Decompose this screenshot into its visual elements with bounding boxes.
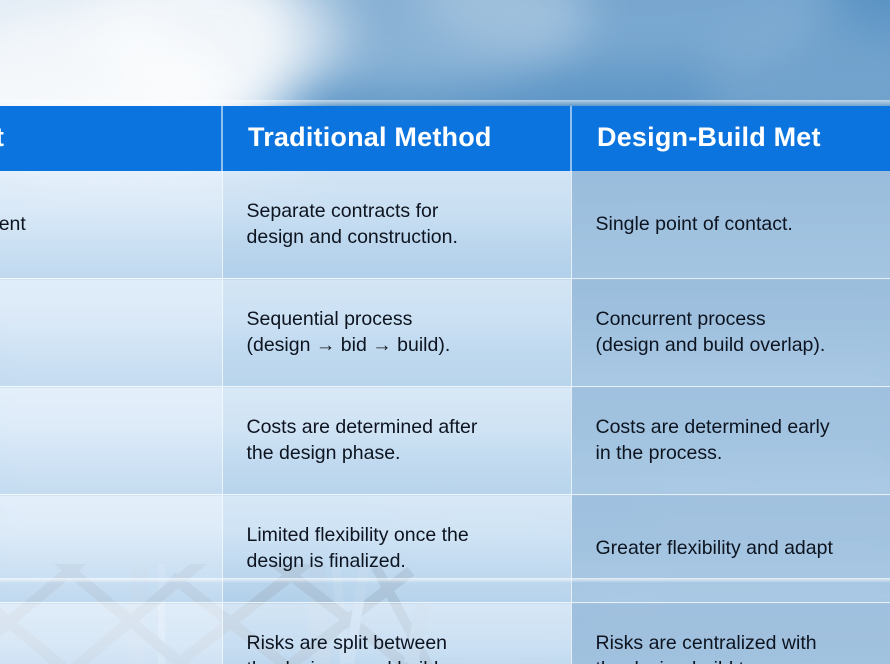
cell-line: in the process. <box>596 442 723 464</box>
cell-design-build: Single point of contact. <box>571 171 890 279</box>
cell-line: Greater flexibility and adapt <box>596 537 833 559</box>
table-row: ity Limited flexibility once the design … <box>0 495 890 603</box>
cell-line: the designer and builder. <box>247 658 461 664</box>
cell-line: (design → bid → build). <box>247 334 451 356</box>
cell-aspect: ity <box>0 495 222 603</box>
cell-line: design is finalized. <box>247 550 406 572</box>
cell-line: Single point of contact. <box>596 213 793 235</box>
column-header-aspect: Aspect <box>0 106 222 171</box>
cell-line: the design phase. <box>247 442 401 464</box>
cell-traditional: Sequential process (design → bid → build… <box>222 279 571 387</box>
table-row: stribution Risks are split between the d… <box>0 603 890 664</box>
cell-design-build: Greater flexibility and adapt <box>571 495 890 603</box>
cell-line: design and construction. <box>247 226 458 248</box>
table-body: Management Separate contracts for design… <box>0 171 890 664</box>
column-header-design-build: Design-Build Met <box>571 106 890 171</box>
cell-line: Separate contracts for <box>247 200 439 222</box>
table-row: ontrol Costs are determined after the de… <box>0 387 890 495</box>
cell-traditional: Costs are determined after the design ph… <box>222 387 571 495</box>
column-header-traditional: Traditional Method <box>222 106 571 171</box>
cell-traditional: Limited flexibility once the design is f… <box>222 495 571 603</box>
table-row: Management Separate contracts for design… <box>0 171 890 279</box>
cell-line: Costs are determined after <box>247 416 478 438</box>
cell-design-build: Risks are centralized with the design-bu… <box>571 603 890 664</box>
cell-line: Limited flexibility once the <box>247 524 469 546</box>
cell-line: the design-build team. <box>596 658 788 664</box>
table-row: e Sequential process (design → bid → bui… <box>0 279 890 387</box>
cell-design-build: Concurrent process (design and build ove… <box>571 279 890 387</box>
table-bottom-highlight <box>0 578 890 583</box>
cell-line: Costs are determined early <box>596 416 830 438</box>
cell-design-build: Costs are determined early in the proces… <box>571 387 890 495</box>
cell-aspect: ontrol <box>0 387 222 495</box>
cell-aspect: stribution <box>0 603 222 664</box>
cell-line: Risks are centralized with <box>596 632 817 654</box>
cell-line: Concurrent process <box>596 308 766 330</box>
cell-aspect: Management <box>0 171 222 279</box>
table-header-row: Aspect Traditional Method Design-Build M… <box>0 106 890 171</box>
cell-traditional: Risks are split between the designer and… <box>222 603 571 664</box>
cell-traditional: Separate contracts for design and constr… <box>222 171 571 279</box>
cell-line: Sequential process <box>247 308 413 330</box>
cell-aspect: e <box>0 279 222 387</box>
cell-line: (design and build overlap). <box>596 334 826 356</box>
slide-canvas: Aspect Traditional Method Design-Build M… <box>0 0 890 664</box>
cell-line: Risks are split between <box>247 632 448 654</box>
